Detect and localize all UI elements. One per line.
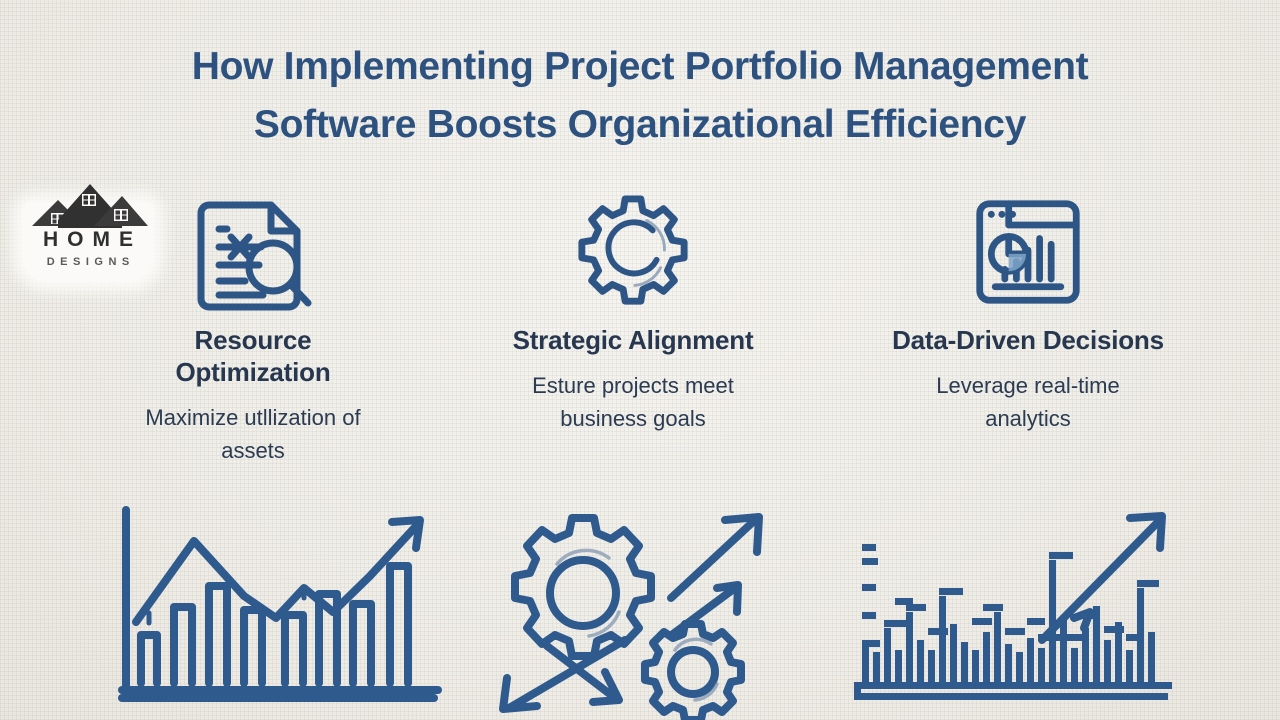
- feature-heading: Data-Driven Decisions: [858, 324, 1198, 356]
- page-title: How Implementing Project Portfolio Manag…: [0, 38, 1280, 154]
- gear-icon: [473, 196, 793, 308]
- infographic-canvas: How Implementing Project Portfolio Manag…: [0, 0, 1280, 720]
- feature-description-line-1: Leverage real-time: [936, 373, 1119, 398]
- dashboard-analytics-icon: [858, 196, 1198, 308]
- feature-description-line-2: analytics: [985, 406, 1071, 431]
- feature-column-resource-optimization: Resource Optimization Maximize utllizati…: [93, 196, 413, 467]
- feature-heading-line-2: Optimization: [175, 357, 330, 387]
- bar-chart-trend-arrow-illustration: [108, 500, 444, 712]
- feature-heading-line-1: Resource: [195, 325, 312, 355]
- feature-description: Maximize utllization of assets: [93, 401, 413, 467]
- dense-bar-chart-arrow-illustration: [846, 500, 1182, 712]
- feature-description-line-2: business goals: [560, 406, 706, 431]
- two-gears-arrows-illustration: [485, 512, 795, 712]
- feature-heading-line-1: Strategic Alignment: [513, 325, 754, 355]
- feature-heading: Strategic Alignment: [473, 324, 793, 356]
- feature-column-strategic-alignment: Strategic Alignment Esture projects meet…: [473, 196, 793, 435]
- title-line-1: How Implementing Project Portfolio Manag…: [0, 38, 1280, 96]
- feature-description-line-2: assets: [221, 438, 285, 463]
- title-line-2: Software Boosts Organizational Efficienc…: [0, 96, 1280, 154]
- feature-description: Esture projects meet business goals: [473, 369, 793, 435]
- feature-column-data-driven-decisions: Data-Driven Decisions Leverage real-time…: [858, 196, 1198, 435]
- feature-description-line-1: Esture projects meet: [532, 373, 734, 398]
- document-magnifier-icon: [93, 196, 413, 308]
- feature-heading-line-1: Data-Driven Decisions: [892, 325, 1164, 355]
- feature-description: Leverage real-time analytics: [858, 369, 1198, 435]
- feature-heading: Resource Optimization: [93, 324, 413, 388]
- feature-description-line-1: Maximize utllization of: [145, 405, 360, 430]
